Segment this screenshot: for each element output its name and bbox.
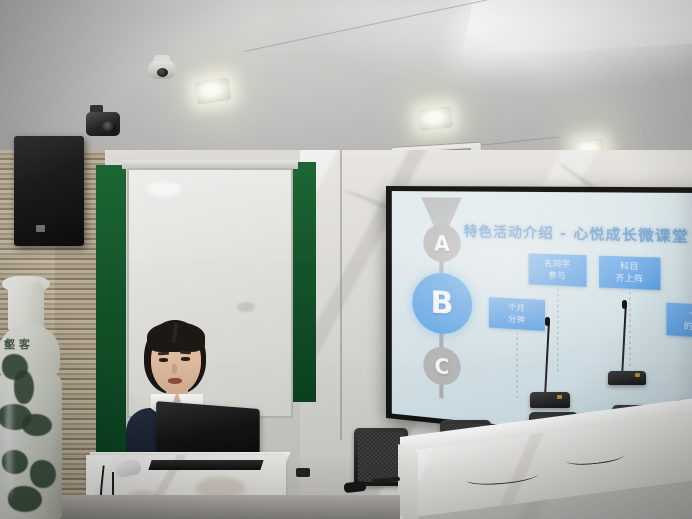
vase-landscape-paint: [8, 486, 42, 512]
slide-node-a: A: [423, 224, 460, 263]
camera-lens: [157, 68, 168, 77]
laptop-base: [148, 460, 263, 470]
slide-callout-box: 个月 分钟: [489, 297, 545, 331]
presenter-mouth: [168, 378, 182, 384]
slide-title: 特色活动介绍 - 心悦成长微课堂: [464, 220, 689, 246]
conference-table-edge: [398, 444, 418, 519]
slide-connector-line: [557, 289, 558, 373]
microphone-base: [608, 371, 646, 385]
microphone-led: [635, 373, 640, 377]
desk-accessory: [296, 468, 310, 477]
green-wall-panel: [292, 162, 316, 402]
presenter-nose: [172, 364, 177, 374]
microphone-base: [530, 392, 570, 408]
conference-room-photo: 特色活动介绍 - 心悦成长微课堂 A B C 名同学 参与 科目 齐上阵 个月 …: [0, 0, 692, 519]
microphone-head: [545, 317, 550, 326]
camera-lens: [102, 121, 116, 133]
slide-node-a-letter: A: [434, 231, 450, 256]
vase-landscape-paint: [22, 414, 52, 436]
slide-node-c: C: [423, 346, 460, 387]
microphone-head: [622, 300, 627, 309]
camera-mount: [154, 55, 170, 61]
whiteboard-smudge: [237, 302, 255, 312]
wall-seam: [340, 150, 342, 440]
slide-node-b-letter: B: [430, 285, 453, 322]
whiteboard-glare: [147, 182, 181, 196]
ptz-camera-icon: [86, 108, 120, 138]
slide-connector-line: [629, 292, 630, 369]
slide-callout-box: 一届 的学生: [667, 303, 692, 339]
wall-speaker: [14, 136, 84, 246]
vase-landscape-paint: [14, 370, 34, 404]
slide-callout-line2: 的学生: [670, 320, 692, 336]
slide-callout-box: 名同学 参与: [529, 253, 587, 286]
presenter-eye: [181, 357, 190, 361]
dome-security-camera-icon: [148, 59, 176, 79]
slide-node-b: B: [412, 272, 472, 336]
slide-node-c-letter: C: [434, 353, 449, 379]
vase-neck: [8, 282, 44, 330]
slide-callout-line2: 参与: [532, 269, 583, 283]
porcelain-vase: 壑 客: [0, 282, 62, 519]
slide-connector-line: [517, 332, 518, 398]
slide-callout-line2: 齐上阵: [603, 272, 657, 286]
vase-highlight: [6, 378, 15, 498]
ceiling-spotlight: [418, 106, 453, 130]
slide-callout-line2: 分钟: [492, 313, 542, 327]
vase-landscape-paint: [30, 460, 56, 488]
slide-callout-box: 科目 齐上阵: [599, 256, 660, 290]
vase-calligraphy: 壑 客: [4, 336, 30, 352]
microphone-led: [557, 395, 562, 399]
ceiling-spotlight: [195, 78, 232, 105]
presenter-eye: [159, 358, 168, 362]
speaker-badge: [36, 225, 45, 232]
